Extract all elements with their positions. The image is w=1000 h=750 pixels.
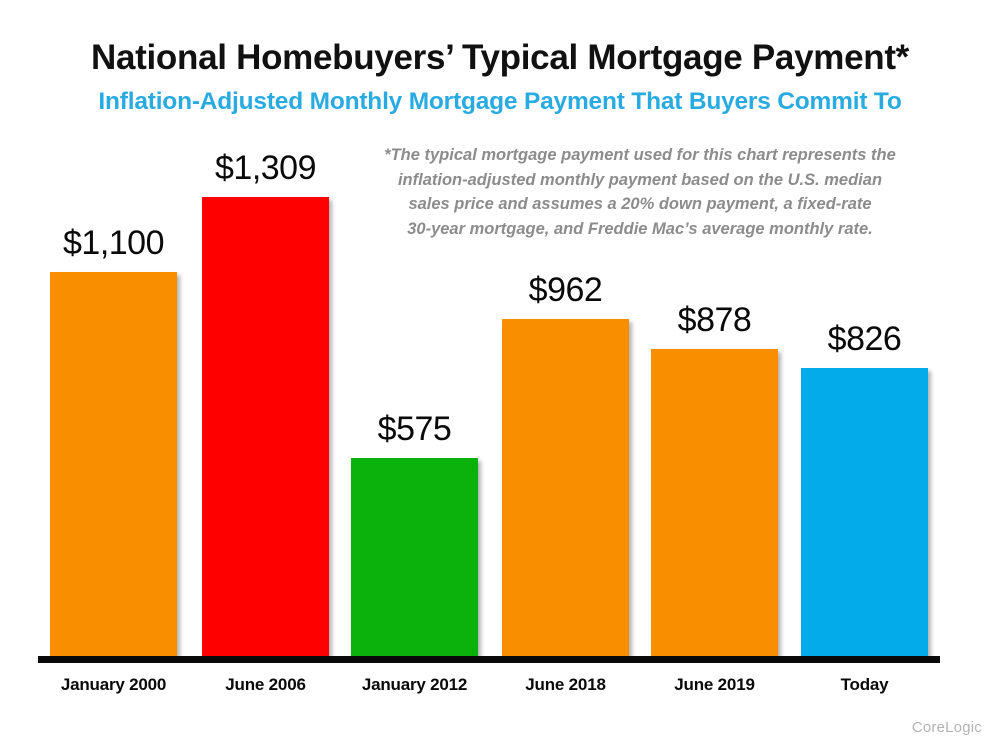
bar-orange-0	[50, 272, 177, 656]
bar-green-2	[351, 458, 478, 656]
chart-canvas: National Homebuyers’ Typical Mortgage Pa…	[0, 0, 1000, 750]
bar-value-label: $1,100	[10, 224, 217, 263]
source-attribution: CoreLogic	[912, 719, 982, 736]
bar-blue-5	[801, 368, 928, 656]
bar-orange-3	[502, 319, 629, 656]
bar-value-label: $1,309	[162, 149, 369, 188]
x-axis-label-5: Today	[766, 675, 963, 695]
plot-area: $1,100January 2000$1,309June 2006$575Jan…	[0, 0, 1000, 750]
bar-value-label: $575	[311, 410, 518, 449]
bar-value-label: $826	[761, 320, 968, 359]
bar-orange-4	[651, 349, 778, 656]
bar-red-1	[202, 197, 329, 656]
x-axis-line	[38, 656, 940, 663]
